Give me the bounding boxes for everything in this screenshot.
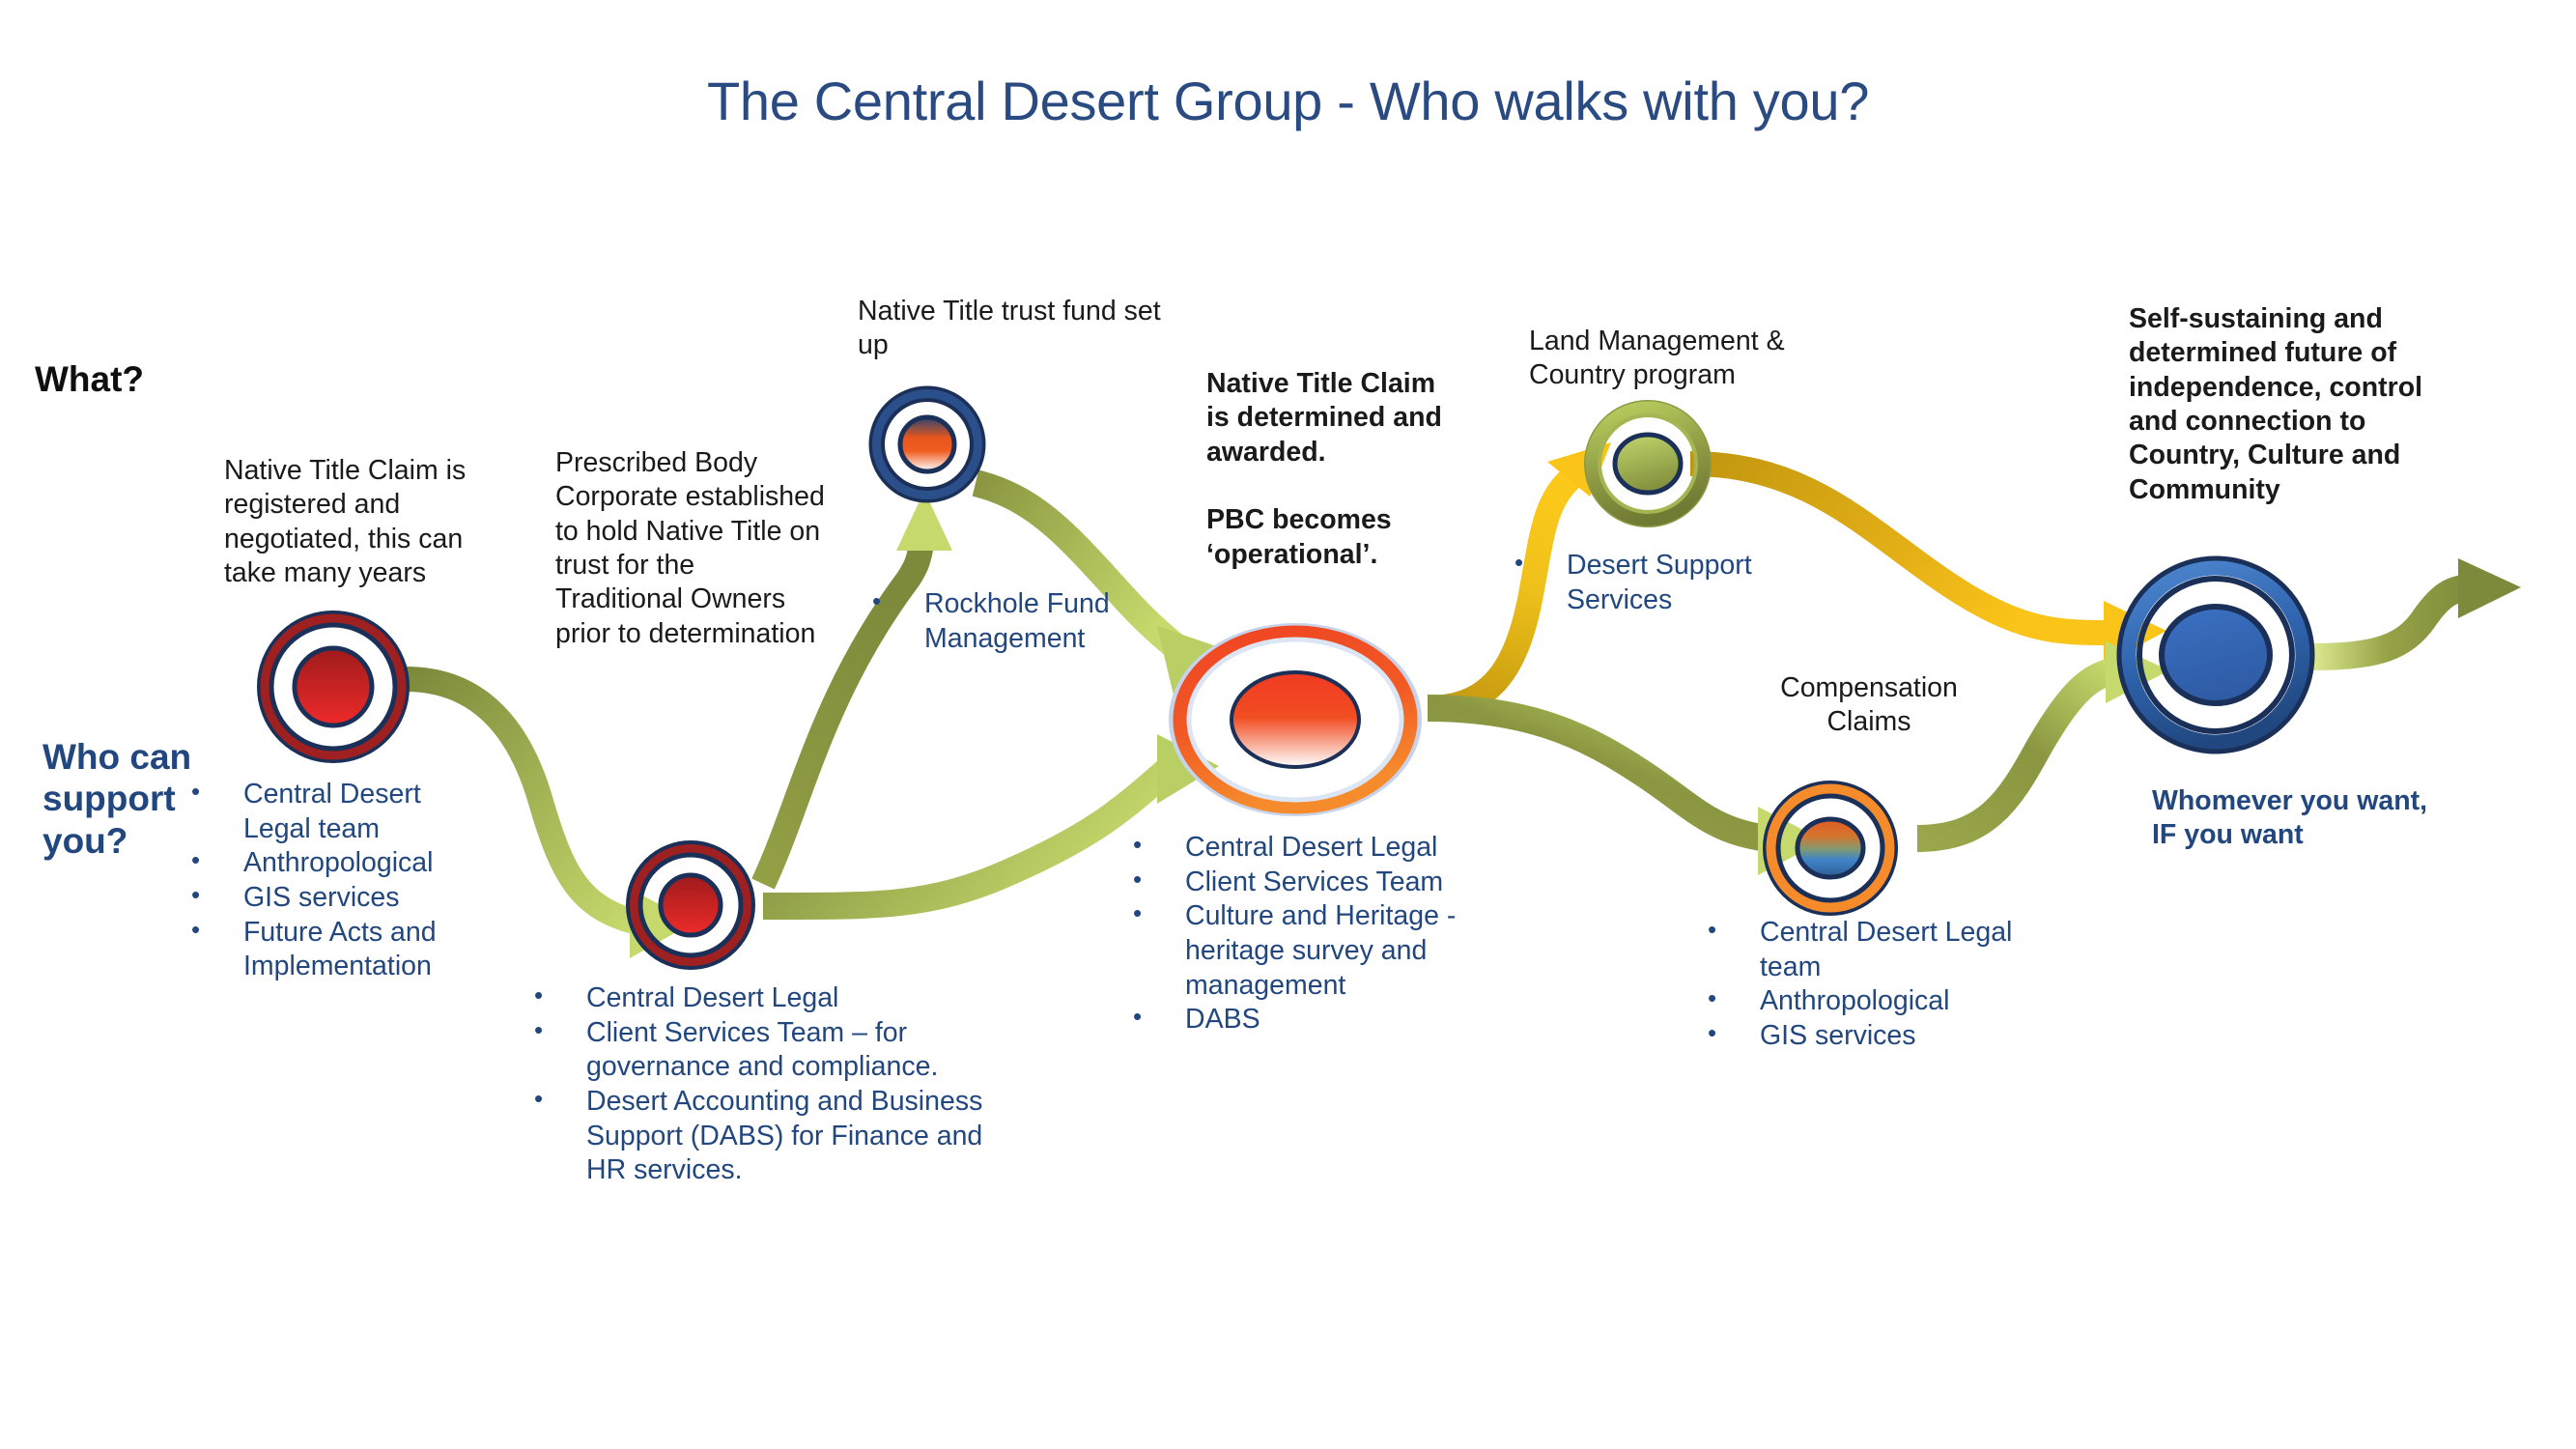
node-land-management-country-program xyxy=(1580,396,1715,531)
list-item: Client Services Team xyxy=(1125,866,1512,900)
list-item: Desert Support Services xyxy=(1507,549,1806,617)
who-list-claim-determined-awarded: Central Desert Legal Client Services Tea… xyxy=(1125,831,1512,1037)
list-item: Anthropological xyxy=(184,846,473,881)
who-list-land-management-country-program: Desert Support Services xyxy=(1507,549,1806,617)
list-item: Future Acts and Implementation xyxy=(184,916,473,984)
list-item: Central Desert Legal xyxy=(1125,831,1512,866)
what-text-prescribed-body-corporate: Prescribed Body Corporate established to… xyxy=(555,446,826,651)
list-item: GIS services xyxy=(184,881,473,916)
who-list-prescribed-body-corporate: Central Desert Legal Client Services Tea… xyxy=(526,981,1029,1188)
list-item: Anthropological xyxy=(1700,984,2057,1019)
node-native-title-claim-registered xyxy=(253,607,413,767)
node-compensation-claims xyxy=(1760,778,1901,919)
what-text-land-management-country-program: Land Management & Country program xyxy=(1529,325,1848,393)
what-text-self-sustaining-future: Self-sustaining and determined future of… xyxy=(2129,302,2448,507)
list-item: Client Services Team – for governance an… xyxy=(526,1016,1029,1085)
node-prescribed-body-corporate xyxy=(623,838,758,973)
list-item: Central Desert Legal team xyxy=(1700,916,2057,984)
node-self-sustaining-future xyxy=(2113,553,2318,757)
node-claim-determined-awarded xyxy=(1169,623,1422,816)
node-native-title-trust-fund xyxy=(865,383,989,506)
list-item: DABS xyxy=(1125,1003,1512,1037)
who-list-native-title-trust-fund: Rockhole Fund Management xyxy=(864,587,1154,656)
list-item: GIS services xyxy=(1700,1019,2057,1054)
what-text-claim-determined-awarded: Native Title Claim is determined and awa… xyxy=(1206,367,1462,572)
what-text-native-title-claim-registered: Native Title Claim is registered and neg… xyxy=(224,454,504,590)
list-item: Desert Accounting and Business Support (… xyxy=(526,1085,1029,1188)
list-item: Culture and Heritage - heritage survey a… xyxy=(1125,899,1512,1003)
arrow-future-tail xyxy=(2313,558,2521,657)
list-item: Central Desert Legal team xyxy=(184,778,473,846)
axis-label-what: What? xyxy=(35,359,144,400)
what-text-compensation-claims: Compensation Claims xyxy=(1758,671,1980,740)
list-item: Rockhole Fund Management xyxy=(864,587,1154,656)
who-list-native-title-claim-registered: Central Desert Legal team Anthropologica… xyxy=(184,778,473,984)
caption-self-sustaining-future: Whomever you want, IF you want xyxy=(2152,784,2432,853)
diagram-canvas: The Central Desert Group - Who walks wit… xyxy=(0,0,2576,1449)
what-text-native-title-trust-fund: Native Title trust fund set up xyxy=(858,295,1176,363)
who-list-compensation-claims: Central Desert Legal team Anthropologica… xyxy=(1700,916,2057,1054)
page-title: The Central Desert Group - Who walks wit… xyxy=(0,70,2576,132)
list-item: Central Desert Legal xyxy=(526,981,1029,1016)
